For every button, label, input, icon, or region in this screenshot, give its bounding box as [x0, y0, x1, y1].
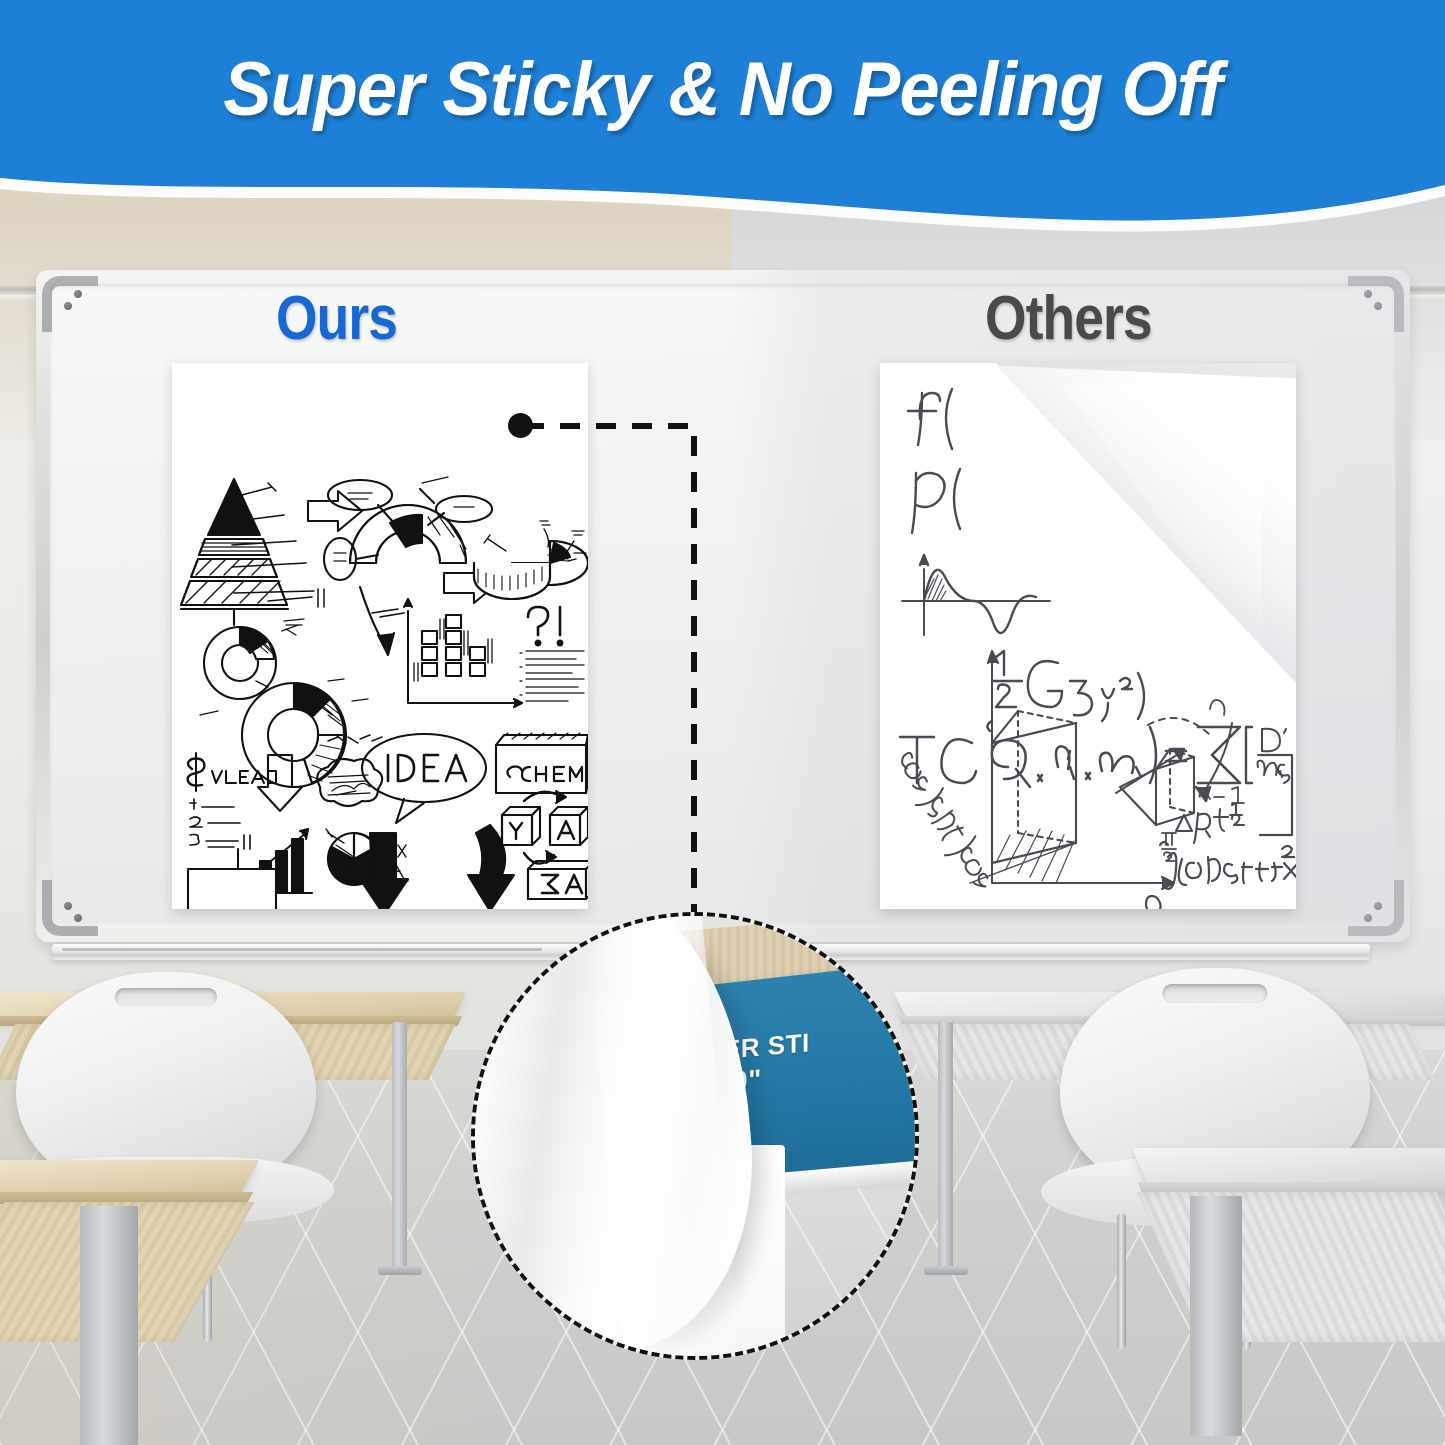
desk-leg	[938, 1022, 953, 1272]
magnifier-callout: SUPER STI 25"x30"	[471, 912, 919, 1360]
desk-leg-foot	[378, 1266, 422, 1275]
frame-corner-bottom-left	[42, 880, 98, 936]
desk-leg	[1190, 1196, 1242, 1436]
desk-left-front	[0, 1160, 250, 1445]
desk-surface	[1132, 1148, 1445, 1184]
classroom-scene: Ours Others	[0, 0, 1445, 1445]
magnifier-content: SUPER STI 25"x30"	[471, 912, 919, 1360]
chair-handle-slot	[1162, 984, 1267, 1002]
desk-leg-foot	[924, 1266, 968, 1275]
marker-tray-slot	[62, 948, 542, 951]
peeling-corner	[996, 363, 1296, 683]
label-ours: Ours	[276, 288, 397, 350]
chair-leg	[1117, 1213, 1126, 1349]
chair-handle-slot	[115, 988, 217, 1006]
callout-dashed-connector	[500, 400, 740, 960]
desk-leg	[80, 1206, 138, 1445]
product-comparison-image: Ours Others	[0, 0, 1445, 1445]
others-sheet	[880, 363, 1296, 909]
frame-corner-top-left	[42, 276, 98, 332]
label-others: Others	[985, 288, 1152, 350]
desk-surface	[0, 1160, 260, 1194]
desk-modesty-panel	[1137, 1192, 1445, 1342]
desk-right-front	[1180, 1148, 1445, 1445]
desk-leg	[392, 1022, 407, 1272]
